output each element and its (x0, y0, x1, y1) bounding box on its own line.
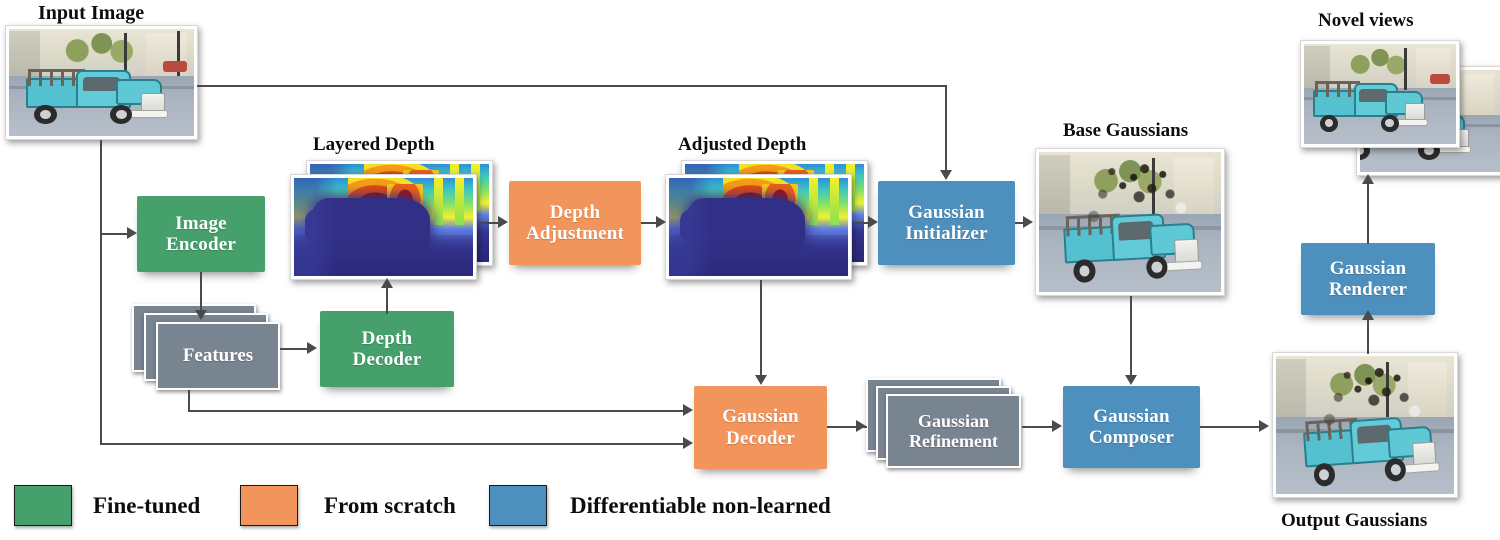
node-image-encoder[interactable]: Image Encoder (137, 196, 265, 272)
edge-features-to-depthdec-arrow (307, 342, 317, 354)
edge-gaussdec-to-refinement-arrow (856, 420, 866, 432)
photo-truck-output-gaussians (1276, 356, 1454, 494)
node-depth-decoder-label: Depth Decoder (353, 328, 422, 371)
legend-label-fine-tuned: Fine-tuned (93, 493, 200, 519)
node-depth-decoder[interactable]: Depth Decoder (320, 311, 454, 387)
legend-label-differentiable: Differentiable non-learned (570, 493, 831, 519)
edge-features-to-gaussdec-arrow (683, 404, 693, 416)
caption-base-gaussians: Base Gaussians (1063, 120, 1188, 142)
edge-input-to-encoder-arrow (127, 227, 137, 239)
node-gaussian-composer-label: Gaussian Composer (1089, 406, 1174, 449)
refinement-card-front: Gaussian Refinement (886, 394, 1021, 468)
pipeline-diagram: Input Image Layered Depth Adjusted Depth… (0, 0, 1500, 540)
edge-input-to-initializer-h (197, 85, 947, 87)
edge-renderer-to-novel-arrow (1362, 174, 1374, 184)
edge-input-to-encoder-h (100, 233, 128, 235)
edge-input-to-decoder-h (100, 443, 684, 445)
node-depth-adjustment-label: Depth Adjustment (526, 202, 624, 245)
layered-depth-group (290, 160, 495, 285)
edge-initializer-to-base-arrow (1023, 216, 1033, 228)
node-features-label: Features (183, 345, 253, 366)
adjusted-depth-front (665, 174, 852, 280)
edge-output-to-renderer-arrow (1362, 310, 1374, 320)
photo-truck-novel-view-1 (1304, 44, 1456, 144)
legend-swatch-from-scratch (240, 485, 298, 526)
edge-input-to-initializer-v (945, 85, 947, 171)
node-depth-adjustment[interactable]: Depth Adjustment (509, 181, 641, 265)
caption-input-image: Input Image (38, 2, 144, 25)
legend-label-from-scratch: From scratch (324, 493, 456, 519)
node-gaussian-renderer[interactable]: Gaussian Renderer (1301, 243, 1435, 315)
node-gaussian-decoder-label: Gaussian Decoder (722, 406, 799, 449)
novel-views-group (1300, 40, 1500, 190)
node-features[interactable]: Features (132, 304, 287, 392)
edge-adjusted-to-gaussdec-v (760, 280, 762, 376)
photo-truck-input (9, 29, 194, 136)
base-gaussians-thumbnail (1035, 148, 1225, 296)
edge-input-to-initializer-arrow (940, 170, 952, 180)
edge-adjusted-to-initializer-arrow (868, 216, 878, 228)
edge-layered-to-adjustment-arrow (498, 216, 508, 228)
edge-refinement-to-composer-h (1022, 426, 1054, 428)
novel-view-primary (1300, 40, 1460, 148)
edge-encoder-to-features-v (200, 272, 202, 312)
caption-novel-views: Novel views (1318, 10, 1414, 32)
edge-features-to-gaussdec-h (188, 410, 684, 412)
edge-depthdec-to-layered-arrow (381, 278, 393, 288)
node-gaussian-initializer[interactable]: Gaussian Initializer (878, 181, 1015, 265)
node-gaussian-initializer-label: Gaussian Initializer (905, 202, 987, 245)
edge-composer-to-output-h (1200, 426, 1262, 428)
caption-layered-depth: Layered Depth (313, 134, 435, 156)
edge-features-to-depthdec-h (280, 348, 308, 350)
caption-adjusted-depth: Adjusted Depth (678, 134, 806, 156)
edge-features-to-gaussdec-v (188, 390, 190, 412)
legend-swatch-differentiable (489, 485, 547, 526)
edge-renderer-to-novel-v (1367, 182, 1369, 244)
node-gaussian-composer[interactable]: Gaussian Composer (1063, 386, 1200, 468)
photo-truck-base-gaussians (1039, 152, 1221, 292)
node-gaussian-renderer-label: Gaussian Renderer (1329, 258, 1407, 301)
adjusted-depth-group (665, 160, 870, 285)
output-gaussians-thumbnail (1272, 352, 1458, 498)
layered-depth-front (290, 174, 477, 280)
edge-layered-to-adjustment-h (480, 222, 500, 224)
node-image-encoder-label: Image Encoder (166, 213, 236, 256)
node-gaussian-refinement-label: Gaussian Refinement (909, 411, 998, 451)
edge-refinement-to-composer-arrow (1052, 420, 1062, 432)
edge-output-to-renderer-v (1367, 318, 1369, 354)
edge-base-to-composer-arrow (1125, 375, 1137, 385)
edge-input-bus-v (100, 140, 102, 445)
edge-depthdec-to-layered-v (386, 286, 388, 314)
edge-base-to-composer-v (1130, 296, 1132, 376)
edge-encoder-to-features-arrow (195, 310, 207, 320)
edge-adjusted-to-gaussdec-arrow (755, 375, 767, 385)
node-gaussian-refinement[interactable]: Gaussian Refinement (866, 378, 1026, 474)
caption-output-gaussians: Output Gaussians (1281, 510, 1427, 532)
input-image-thumbnail (5, 25, 198, 140)
edge-input-to-decoder-arrow (683, 437, 693, 449)
edge-composer-to-output-arrow (1259, 420, 1269, 432)
edge-adjustment-to-adjusted-arrow (656, 216, 666, 228)
legend-swatch-fine-tuned (14, 485, 72, 526)
features-card-front: Features (156, 322, 280, 390)
node-gaussian-decoder[interactable]: Gaussian Decoder (694, 386, 827, 469)
